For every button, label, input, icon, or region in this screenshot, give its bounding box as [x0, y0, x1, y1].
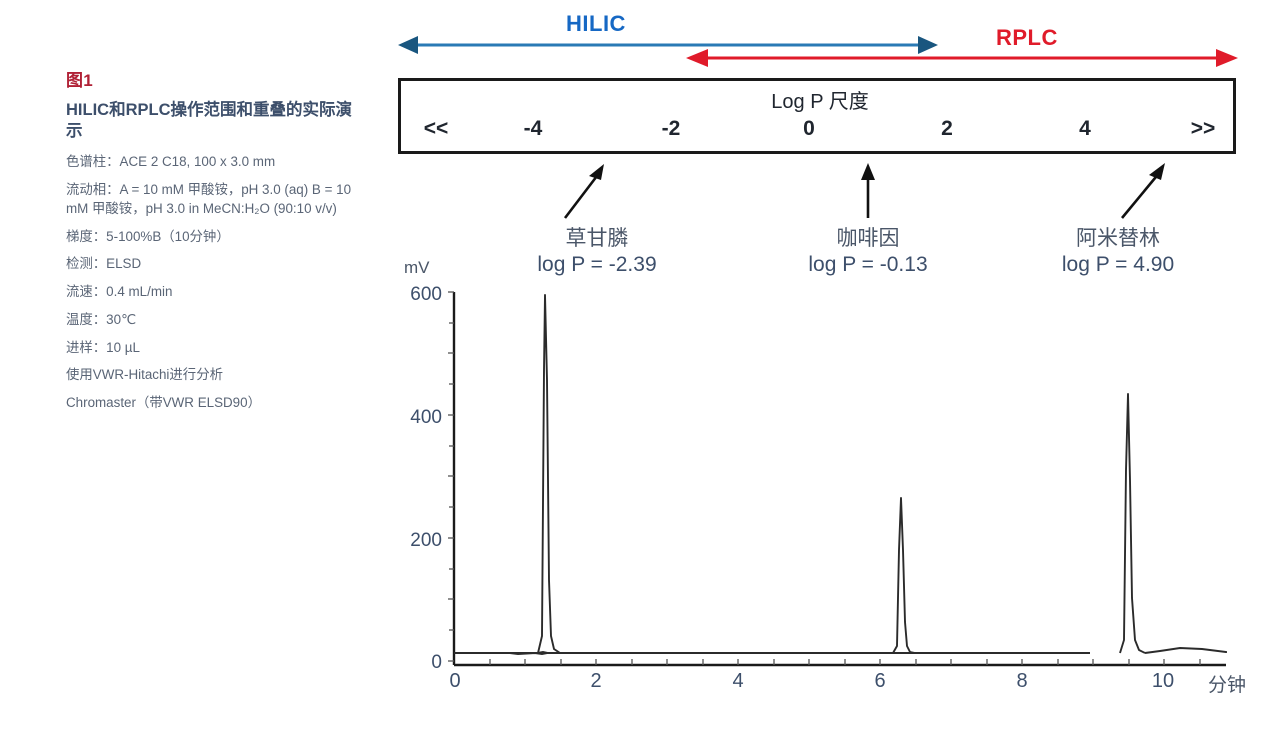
x-tick-8: 8: [1002, 670, 1042, 693]
chromatogram-trace: [390, 250, 1276, 690]
logp-tick-minus2: -2: [641, 117, 701, 141]
caption-detail-detection: 检测：ELSD: [66, 255, 366, 274]
x-tick-10: 10: [1143, 670, 1183, 693]
logp-tick-minus4: -4: [503, 117, 563, 141]
caption-detail-detector: Chromaster（带VWR ELSD90）: [66, 394, 366, 413]
x-axis-unit-label: 分钟: [1208, 670, 1246, 697]
caption-detail-gradient: 梯度：5-100%B（10分钟）: [66, 228, 366, 247]
logp-tick-upper: >>: [1173, 117, 1233, 141]
logp-tick-four: 4: [1055, 117, 1115, 141]
logp-tick-two: 2: [917, 117, 977, 141]
logp-tick-lower: <<: [406, 117, 466, 141]
logp-scale-title: Log P 尺度: [401, 85, 1239, 114]
caption-detail-temperature: 温度：30℃: [66, 311, 366, 330]
x-tick-6: 6: [860, 670, 900, 693]
caption-detail-injection: 进样：10 µL: [66, 339, 366, 358]
logp-tick-zero: 0: [779, 117, 839, 141]
compound-name-glyphosate: 草甘膦: [487, 222, 707, 252]
x-tick-4: 4: [718, 670, 758, 693]
chromatogram-plot: mV 600 400 200 0: [390, 250, 1276, 740]
rplc-range-arrow: [686, 46, 1238, 70]
caption-detail-instrument: 使用VWR-Hitachi进行分析: [66, 366, 366, 385]
x-tick-0: 0: [435, 670, 475, 693]
logp-scale-box: Log P 尺度 << -4 -2 0 2 4 >>: [398, 78, 1236, 154]
compound-name-caffeine: 咖啡因: [758, 222, 978, 252]
logp-scale-region: HILIC RPLC Log P 尺度 << -4 -2 0 2 4 >> 草甘…: [0, 0, 1276, 170]
caption-detail-mobile-phase: 流动相：A = 10 mM 甲酸铵，pH 3.0 (aq) B = 10 mM …: [66, 181, 366, 219]
caption-detail-flowrate: 流速：0.4 mL/min: [66, 283, 366, 302]
x-tick-2: 2: [576, 670, 616, 693]
compound-name-amitriptyline: 阿米替林: [1008, 222, 1228, 252]
